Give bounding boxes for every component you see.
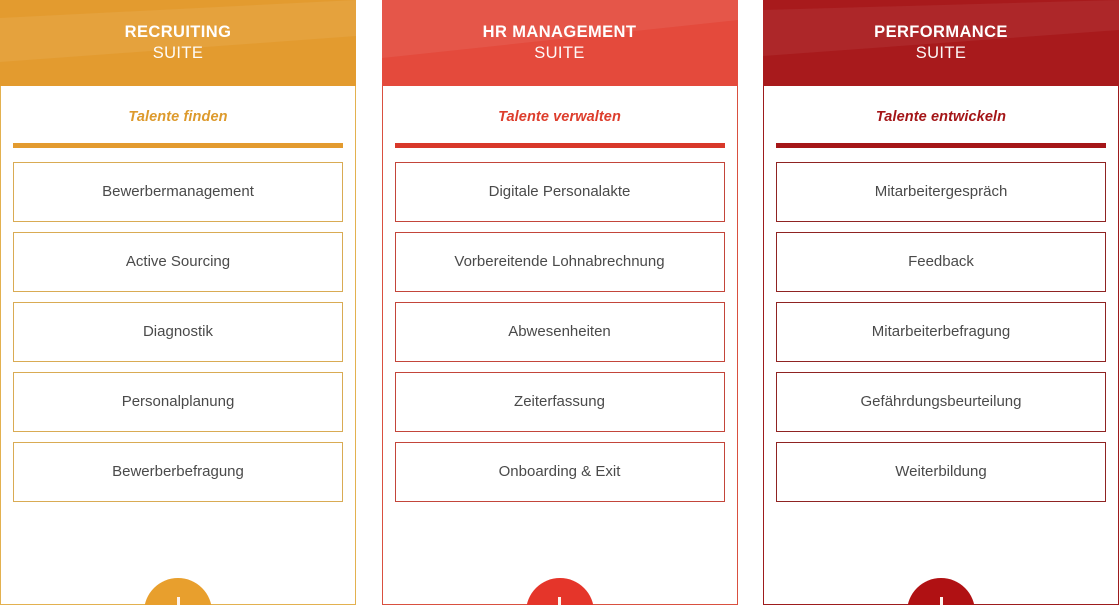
list-item[interactable]: Onboarding & Exit bbox=[395, 442, 725, 502]
tagline-divider bbox=[395, 143, 725, 148]
plus-icon-vertical bbox=[558, 597, 561, 605]
list-item[interactable]: Feedback bbox=[776, 232, 1106, 292]
list-item[interactable]: Digitale Personalakte bbox=[395, 162, 725, 222]
feature-list-hr-management: Digitale Personalakte Vorbereitende Lohn… bbox=[395, 162, 725, 502]
list-item[interactable]: Mitarbeiterbefragung bbox=[776, 302, 1106, 362]
add-more-button-recruiting[interactable] bbox=[144, 578, 212, 605]
feature-list-recruiting: Bewerbermanagement Active Sourcing Diagn… bbox=[13, 162, 343, 502]
card-title: PERFORMANCE bbox=[874, 22, 1008, 43]
suite-card-hr-management: HR MANAGEMENT SUITE Talente verwalten Di… bbox=[382, 0, 738, 605]
card-header-recruiting: RECRUITING SUITE bbox=[0, 0, 356, 86]
plus-icon-vertical bbox=[940, 597, 943, 605]
list-item[interactable]: Vorbereitende Lohnabrechnung bbox=[395, 232, 725, 292]
suite-card-performance: PERFORMANCE SUITE Talente entwickeln Mit… bbox=[763, 0, 1119, 605]
card-subtitle: SUITE bbox=[874, 43, 1008, 64]
list-item[interactable]: Bewerbermanagement bbox=[13, 162, 343, 222]
card-tagline: Talente verwalten bbox=[395, 86, 725, 143]
list-item[interactable]: Active Sourcing bbox=[13, 232, 343, 292]
plus-icon-vertical bbox=[177, 597, 180, 605]
tagline-divider bbox=[776, 143, 1106, 148]
feature-list-performance: Mitarbeitergespräch Feedback Mitarbeiter… bbox=[776, 162, 1106, 502]
add-button-wrap-hr-management bbox=[383, 578, 737, 605]
list-item[interactable]: Zeiterfassung bbox=[395, 372, 725, 432]
card-title: RECRUITING bbox=[125, 22, 232, 43]
card-header-performance: PERFORMANCE SUITE bbox=[763, 0, 1119, 86]
card-body-hr-management: Talente verwalten Digitale Personalakte … bbox=[382, 86, 738, 605]
suite-cards-board: RECRUITING SUITE Talente finden Bewerber… bbox=[0, 0, 1119, 605]
add-more-button-performance[interactable] bbox=[907, 578, 975, 605]
list-item[interactable]: Abwesenheiten bbox=[395, 302, 725, 362]
list-item[interactable]: Weiterbildung bbox=[776, 442, 1106, 502]
card-body-recruiting: Talente finden Bewerbermanagement Active… bbox=[0, 86, 356, 605]
add-more-button-hr-management[interactable] bbox=[526, 578, 594, 605]
list-item[interactable]: Mitarbeitergespräch bbox=[776, 162, 1106, 222]
card-tagline: Talente entwickeln bbox=[776, 86, 1106, 143]
list-item[interactable]: Personalplanung bbox=[13, 372, 343, 432]
card-title: HR MANAGEMENT bbox=[483, 22, 637, 43]
card-header-hr-management: HR MANAGEMENT SUITE bbox=[382, 0, 738, 86]
suite-card-recruiting: RECRUITING SUITE Talente finden Bewerber… bbox=[0, 0, 356, 605]
add-button-wrap-recruiting bbox=[1, 578, 355, 605]
card-subtitle: SUITE bbox=[125, 43, 232, 64]
card-body-performance: Talente entwickeln Mitarbeitergespräch F… bbox=[763, 86, 1119, 605]
add-button-wrap-performance bbox=[764, 578, 1118, 605]
card-tagline: Talente finden bbox=[13, 86, 343, 143]
card-subtitle: SUITE bbox=[483, 43, 637, 64]
list-item[interactable]: Gefährdungsbeurteilung bbox=[776, 372, 1106, 432]
list-item[interactable]: Bewerberbefragung bbox=[13, 442, 343, 502]
tagline-divider bbox=[13, 143, 343, 148]
list-item[interactable]: Diagnostik bbox=[13, 302, 343, 362]
